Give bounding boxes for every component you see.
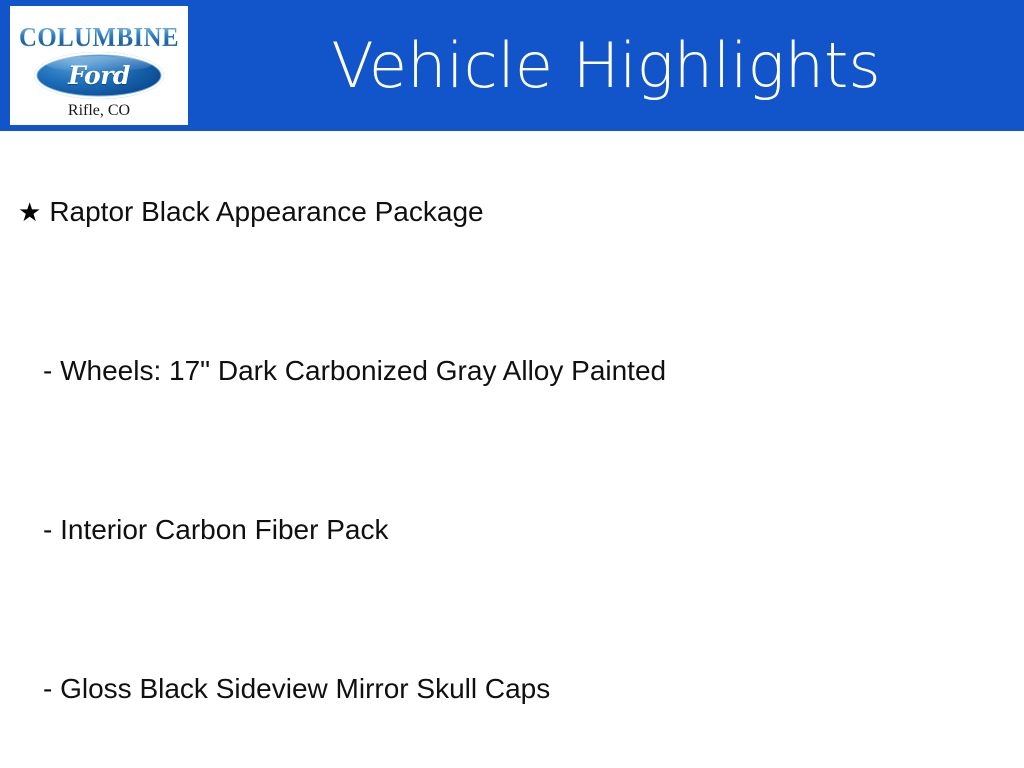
list-item: - Interior Carbon Fiber Pack — [43, 515, 1024, 555]
highlight-text: - Gloss Black Sideview Mirror Skull Caps — [43, 674, 550, 704]
logo-city-text: Rifle, CO — [10, 102, 188, 120]
highlight-text: - Interior Carbon Fiber Pack — [43, 515, 388, 545]
highlight-text: Raptor Black Appearance Package — [49, 197, 483, 227]
logo-wordmark-text: COLUMBINE — [17, 24, 181, 51]
list-item: - Gloss Black Sideview Mirror Skull Caps — [43, 674, 1024, 714]
page-title: Vehicle Highlights — [188, 0, 1024, 131]
ford-oval-icon: Ford — [34, 52, 164, 99]
header-banner: COLUMBINE Ford Rifle, CO Vehicle Highlig… — [0, 0, 1024, 131]
dealer-logo: COLUMBINE Ford Rifle, CO — [10, 6, 188, 125]
star-bullet-icon: ★ — [18, 197, 41, 227]
highlights-list: ★Raptor Black Appearance Package- Wheels… — [0, 131, 1024, 768]
ford-brand-text: Ford — [34, 52, 164, 99]
list-item: ★Raptor Black Appearance Package — [18, 197, 1024, 237]
list-item: - Wheels: 17" Dark Carbonized Gray Alloy… — [43, 356, 1024, 396]
highlight-text: - Wheels: 17" Dark Carbonized Gray Alloy… — [43, 356, 666, 386]
